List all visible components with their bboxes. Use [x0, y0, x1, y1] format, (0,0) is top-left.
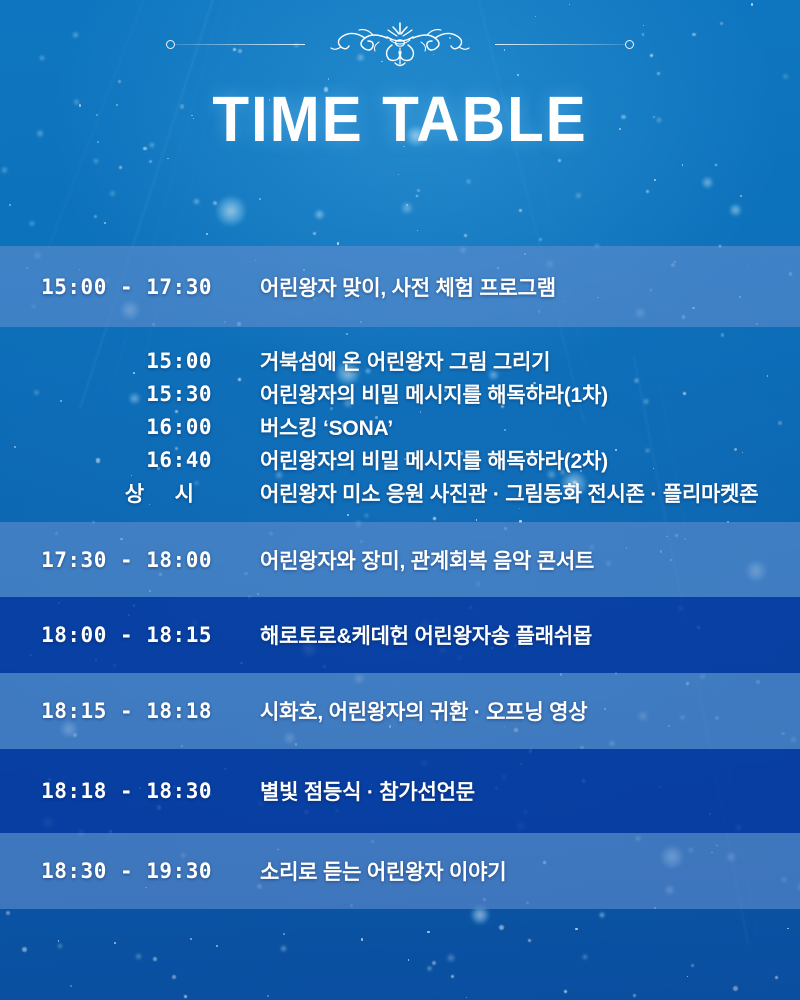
schedule-subrow-time: 15:00: [0, 349, 212, 373]
ornament-line-right: [495, 44, 625, 45]
schedule-row-label: 별빛 점등식 · 참가선언문: [212, 776, 800, 806]
schedule-subrow-label: 어린왕자 미소 응원 사진관 · 그림동화 전시존 · 플리마켓존: [212, 478, 800, 508]
schedule-row-time: 17:30 - 18:00: [0, 548, 212, 572]
schedule-row-label: 어린왕자 맞이, 사전 체험 프로그램: [212, 272, 800, 302]
schedule-subrow-group: 15:00 거북섬에 온 어린왕자 그림 그리기 15:30 어린왕자의 비밀 …: [0, 327, 800, 522]
schedule-row-label: 소리로 듣는 어린왕자 이야기: [212, 856, 800, 886]
schedule-row-label: 어린왕자와 장미, 관계회복 음악 콘서트: [212, 545, 800, 575]
filigree-ornament-icon: [307, 18, 493, 70]
schedule-subrow-label: 버스킹 ‘SONA’: [212, 412, 800, 442]
schedule-row: 15:00 - 17:30 어린왕자 맞이, 사전 체험 프로그램: [0, 246, 800, 327]
schedule-list: 15:00 - 17:30 어린왕자 맞이, 사전 체험 프로그램 15:00 …: [0, 246, 800, 1000]
schedule-row: 18:30 - 19:30 소리로 듣는 어린왕자 이야기: [0, 833, 800, 909]
schedule-subrow: 15:00 거북섬에 온 어린왕자 그림 그리기: [0, 344, 800, 377]
schedule-row-time: 18:15 - 18:18: [0, 699, 212, 723]
schedule-subrow-time: 상 시: [0, 478, 212, 508]
schedule-row-label: 해로토로&케데헌 어린왕자송 플래쉬몹: [212, 620, 800, 650]
schedule-subrow-time: 16:40: [0, 448, 212, 472]
ornament-circle-right-icon: [625, 40, 634, 49]
ornament-line-left: [175, 44, 305, 45]
schedule-subrow: 16:40 어린왕자의 비밀 메시지를 해독하라(2차): [0, 443, 800, 476]
schedule-subrow-label: 거북섬에 온 어린왕자 그림 그리기: [212, 346, 800, 376]
schedule-subrow-label: 어린왕자의 비밀 메시지를 해독하라(1차): [212, 379, 800, 409]
schedule-row: 18:18 - 18:30 별빛 점등식 · 참가선언문: [0, 749, 800, 833]
ornament-circle-left-icon: [166, 40, 175, 49]
poster-footer-space: [0, 909, 800, 1000]
schedule-row-time: 18:00 - 18:15: [0, 623, 212, 647]
schedule-subrow-time: 16:00: [0, 415, 212, 439]
schedule-row-time: 18:18 - 18:30: [0, 779, 212, 803]
page-title: TIME TABLE: [24, 82, 776, 156]
timetable-poster: TIME TABLE 15:00 - 17:30 어린왕자 맞이, 사전 체험 …: [0, 0, 800, 1000]
poster-header: TIME TABLE: [0, 0, 800, 246]
schedule-row-time: 15:00 - 17:30: [0, 275, 212, 299]
decorative-ornament: [0, 18, 800, 70]
schedule-subrow-label: 어린왕자의 비밀 메시지를 해독하라(2차): [212, 445, 800, 475]
schedule-subrow: 상 시 어린왕자 미소 응원 사진관 · 그림동화 전시존 · 플리마켓존: [0, 476, 800, 509]
schedule-row-time: 18:30 - 19:30: [0, 859, 212, 883]
schedule-row: 18:15 - 18:18 시화호, 어린왕자의 귀환 · 오프닝 영상: [0, 673, 800, 749]
schedule-subrow: 16:00 버스킹 ‘SONA’: [0, 410, 800, 443]
schedule-row: 17:30 - 18:00 어린왕자와 장미, 관계회복 음악 콘서트: [0, 522, 800, 597]
schedule-row-label: 시화호, 어린왕자의 귀환 · 오프닝 영상: [212, 696, 800, 726]
schedule-subrow: 15:30 어린왕자의 비밀 메시지를 해독하라(1차): [0, 377, 800, 410]
schedule-row: 18:00 - 18:15 해로토로&케데헌 어린왕자송 플래쉬몹: [0, 597, 800, 673]
schedule-subrow-time: 15:30: [0, 382, 212, 406]
